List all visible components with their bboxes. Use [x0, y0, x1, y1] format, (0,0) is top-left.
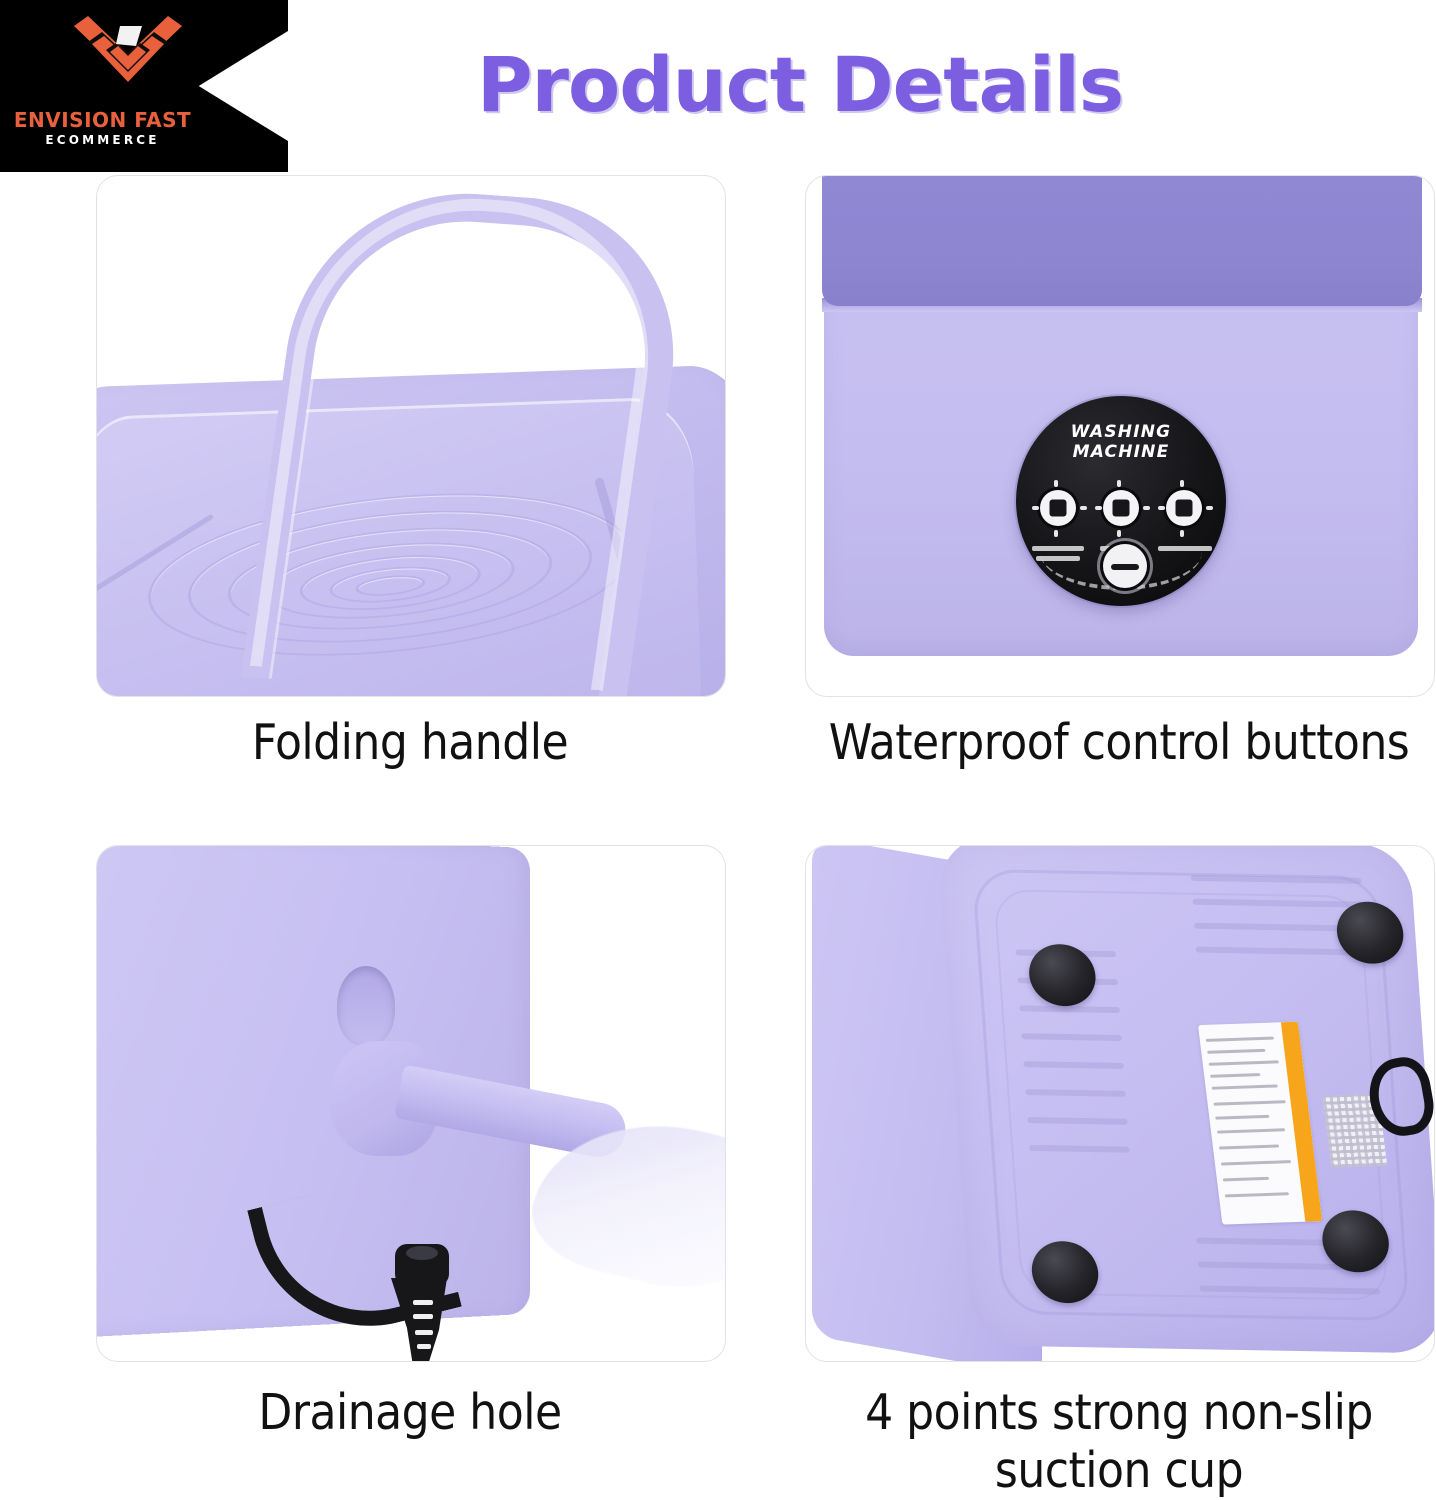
- control-panel-dial[interactable]: WASHING MACHINE: [1016, 396, 1226, 606]
- control-panel-brand-text: WASHING MACHINE: [1016, 422, 1226, 462]
- button-tick: [1158, 506, 1165, 510]
- label-text-line: [1221, 1160, 1291, 1165]
- panel-folding-handle: [96, 175, 726, 697]
- button-tick: [1143, 506, 1150, 510]
- panel-drainage-hole: [96, 845, 726, 1362]
- wash-mode-button[interactable]: [1040, 490, 1076, 526]
- caption-drainage-hole: Drainage hole: [96, 1384, 724, 1442]
- nested-chevron-logo-icon: [74, 16, 182, 104]
- product-photo-drainage: [97, 846, 725, 1361]
- button-tick: [1080, 506, 1087, 510]
- hose-clip-icon: [377, 1244, 463, 1362]
- brand-name: ENVISION FAST: [0, 108, 205, 132]
- button-tick: [1095, 506, 1102, 510]
- caption-suction-cups: 4 points strong non-slip suction cup: [805, 1384, 1433, 1500]
- panel-suction-cups: [805, 845, 1435, 1362]
- label-text-line: [1212, 1084, 1278, 1089]
- drainage-hole: [337, 966, 395, 1046]
- button-tick: [1206, 506, 1213, 510]
- label-text-line: [1209, 1060, 1279, 1065]
- button-tick: [1032, 506, 1039, 510]
- label-text-line: [1207, 1049, 1265, 1054]
- button-tick: [1054, 480, 1058, 487]
- label-text-line: [1210, 1073, 1260, 1078]
- timer-mode-button[interactable]: [1166, 490, 1202, 526]
- label-text-line: [1217, 1128, 1285, 1133]
- product-photo-folding-handle: [97, 176, 725, 696]
- caption-waterproof-control-buttons: Waterproof control buttons: [793, 714, 1436, 772]
- label-text-line: [1214, 1100, 1286, 1105]
- label-text-line: [1215, 1115, 1269, 1120]
- panel-waterproof-control-buttons: WASHING MACHINE: [805, 175, 1435, 697]
- power-button[interactable]: [1103, 544, 1147, 588]
- brand-subtitle: ECOMMERCE: [0, 133, 205, 147]
- folding-handle-highlight: [250, 187, 670, 690]
- label-text-line: [1219, 1144, 1279, 1149]
- label-text-line: [1206, 1037, 1274, 1042]
- label-text-line: [1225, 1192, 1289, 1197]
- product-photo-underside: [806, 846, 1434, 1361]
- button-tick: [1117, 480, 1121, 487]
- page-title: Product Details: [300, 42, 1300, 128]
- machine-lid-front: [822, 176, 1422, 306]
- label-text-line: [1223, 1177, 1269, 1182]
- button-tick: [1180, 480, 1184, 487]
- machine-base-underside: [937, 845, 1435, 1353]
- brand-banner: ENVISION FAST ECOMMERCE: [0, 0, 288, 172]
- product-photo-control-panel: WASHING MACHINE: [806, 176, 1434, 696]
- caption-folding-handle: Folding handle: [96, 714, 724, 772]
